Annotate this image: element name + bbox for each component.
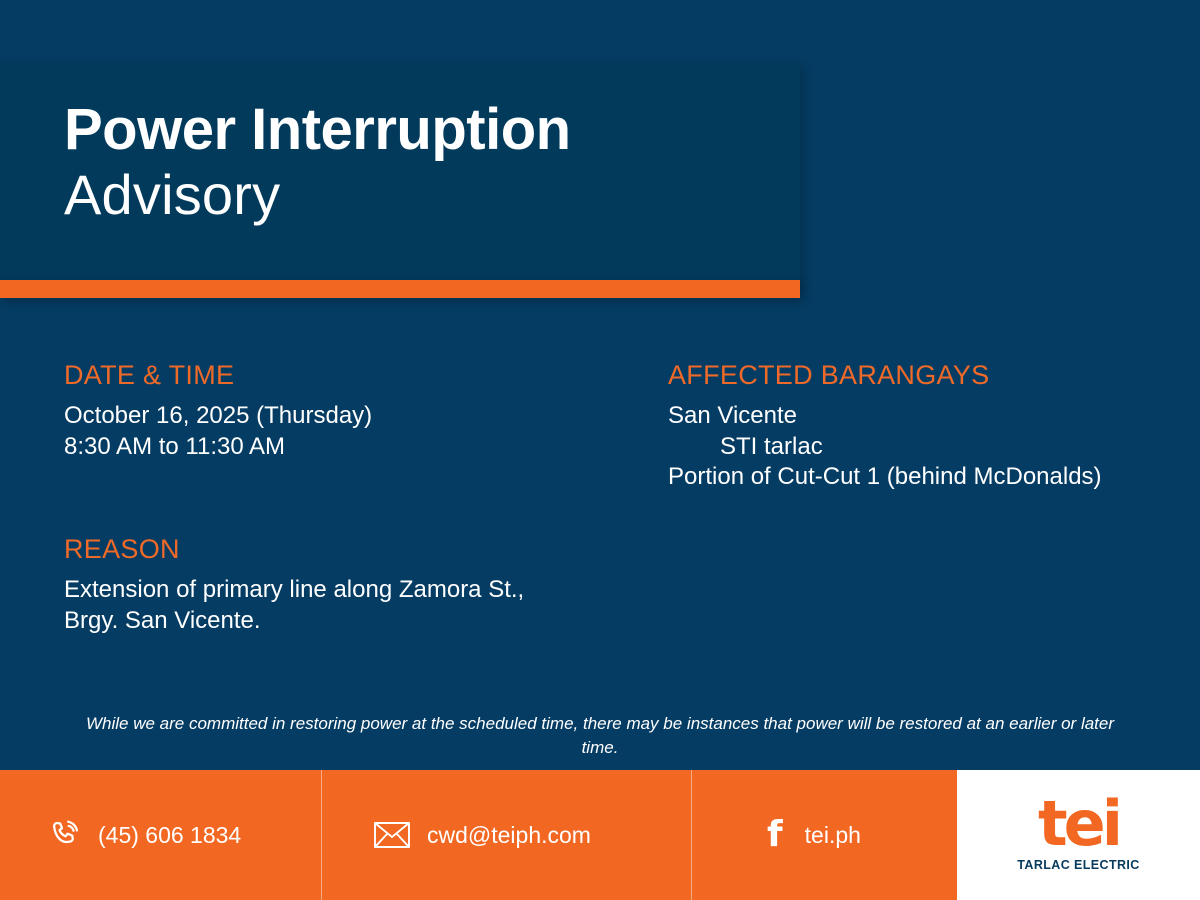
date-time-body: October 16, 2025 (Thursday) 8:30 AM to 1… — [64, 401, 644, 462]
footer: (45) 606 1834 cwd@teiph.com f tei.ph tei… — [0, 770, 1200, 900]
barangay-line-3: Portion of Cut-Cut 1 (behind McDonalds) — [668, 462, 1178, 493]
envelope-icon — [373, 820, 411, 850]
left-column: DATE & TIME October 16, 2025 (Thursday) … — [64, 360, 644, 637]
footer-facebook-label: tei.ph — [805, 822, 861, 849]
reason-line-2: Brgy. San Vicente. — [64, 606, 644, 637]
section-spacer — [64, 462, 644, 534]
footer-facebook[interactable]: f tei.ph — [691, 770, 957, 900]
reason-section: REASON Extension of primary line along Z… — [64, 534, 644, 636]
reason-body: Extension of primary line along Zamora S… — [64, 575, 644, 636]
time-value: 8:30 AM to 11:30 AM — [64, 432, 644, 463]
title-panel: Power Interruption Advisory — [0, 62, 800, 287]
footer-email-label: cwd@teiph.com — [427, 822, 591, 849]
barangay-line-1: San Vicente — [668, 401, 1178, 432]
affected-barangays-body: San Vicente STI tarlac Portion of Cut-Cu… — [668, 401, 1178, 493]
reason-heading: REASON — [64, 534, 644, 565]
footer-phone[interactable]: (45) 606 1834 — [0, 770, 321, 900]
footer-email[interactable]: cwd@teiph.com — [321, 770, 691, 900]
affected-barangays-section: AFFECTED BARANGAYS San Vicente STI tarla… — [668, 360, 1178, 493]
date-value: October 16, 2025 (Thursday) — [64, 401, 644, 432]
logo-caption: TARLAC ELECTRIC — [1017, 858, 1139, 872]
affected-barangays-heading: AFFECTED BARANGAYS — [668, 360, 1178, 391]
date-time-heading: DATE & TIME — [64, 360, 644, 391]
phone-icon — [48, 818, 82, 852]
facebook-icon: f — [767, 817, 783, 853]
barangay-line-2: STI tarlac — [668, 432, 1178, 463]
logo-wordmark: tei — [1038, 798, 1119, 851]
footer-divider-2 — [691, 770, 692, 900]
disclaimer-text: While we are committed in restoring powe… — [80, 712, 1120, 760]
footer-contact-strip: (45) 606 1834 cwd@teiph.com f tei.ph — [0, 770, 957, 900]
footer-divider-1 — [321, 770, 322, 900]
page-title-main: Power Interruption — [64, 100, 800, 159]
reason-line-1: Extension of primary line along Zamora S… — [64, 575, 644, 606]
company-logo: tei TARLAC ELECTRIC — [957, 770, 1200, 900]
page-title-sub: Advisory — [64, 163, 800, 227]
right-column: AFFECTED BARANGAYS San Vicente STI tarla… — [668, 360, 1178, 493]
footer-phone-label: (45) 606 1834 — [98, 822, 241, 849]
date-time-section: DATE & TIME October 16, 2025 (Thursday) … — [64, 360, 644, 462]
title-accent-bar — [0, 280, 800, 298]
